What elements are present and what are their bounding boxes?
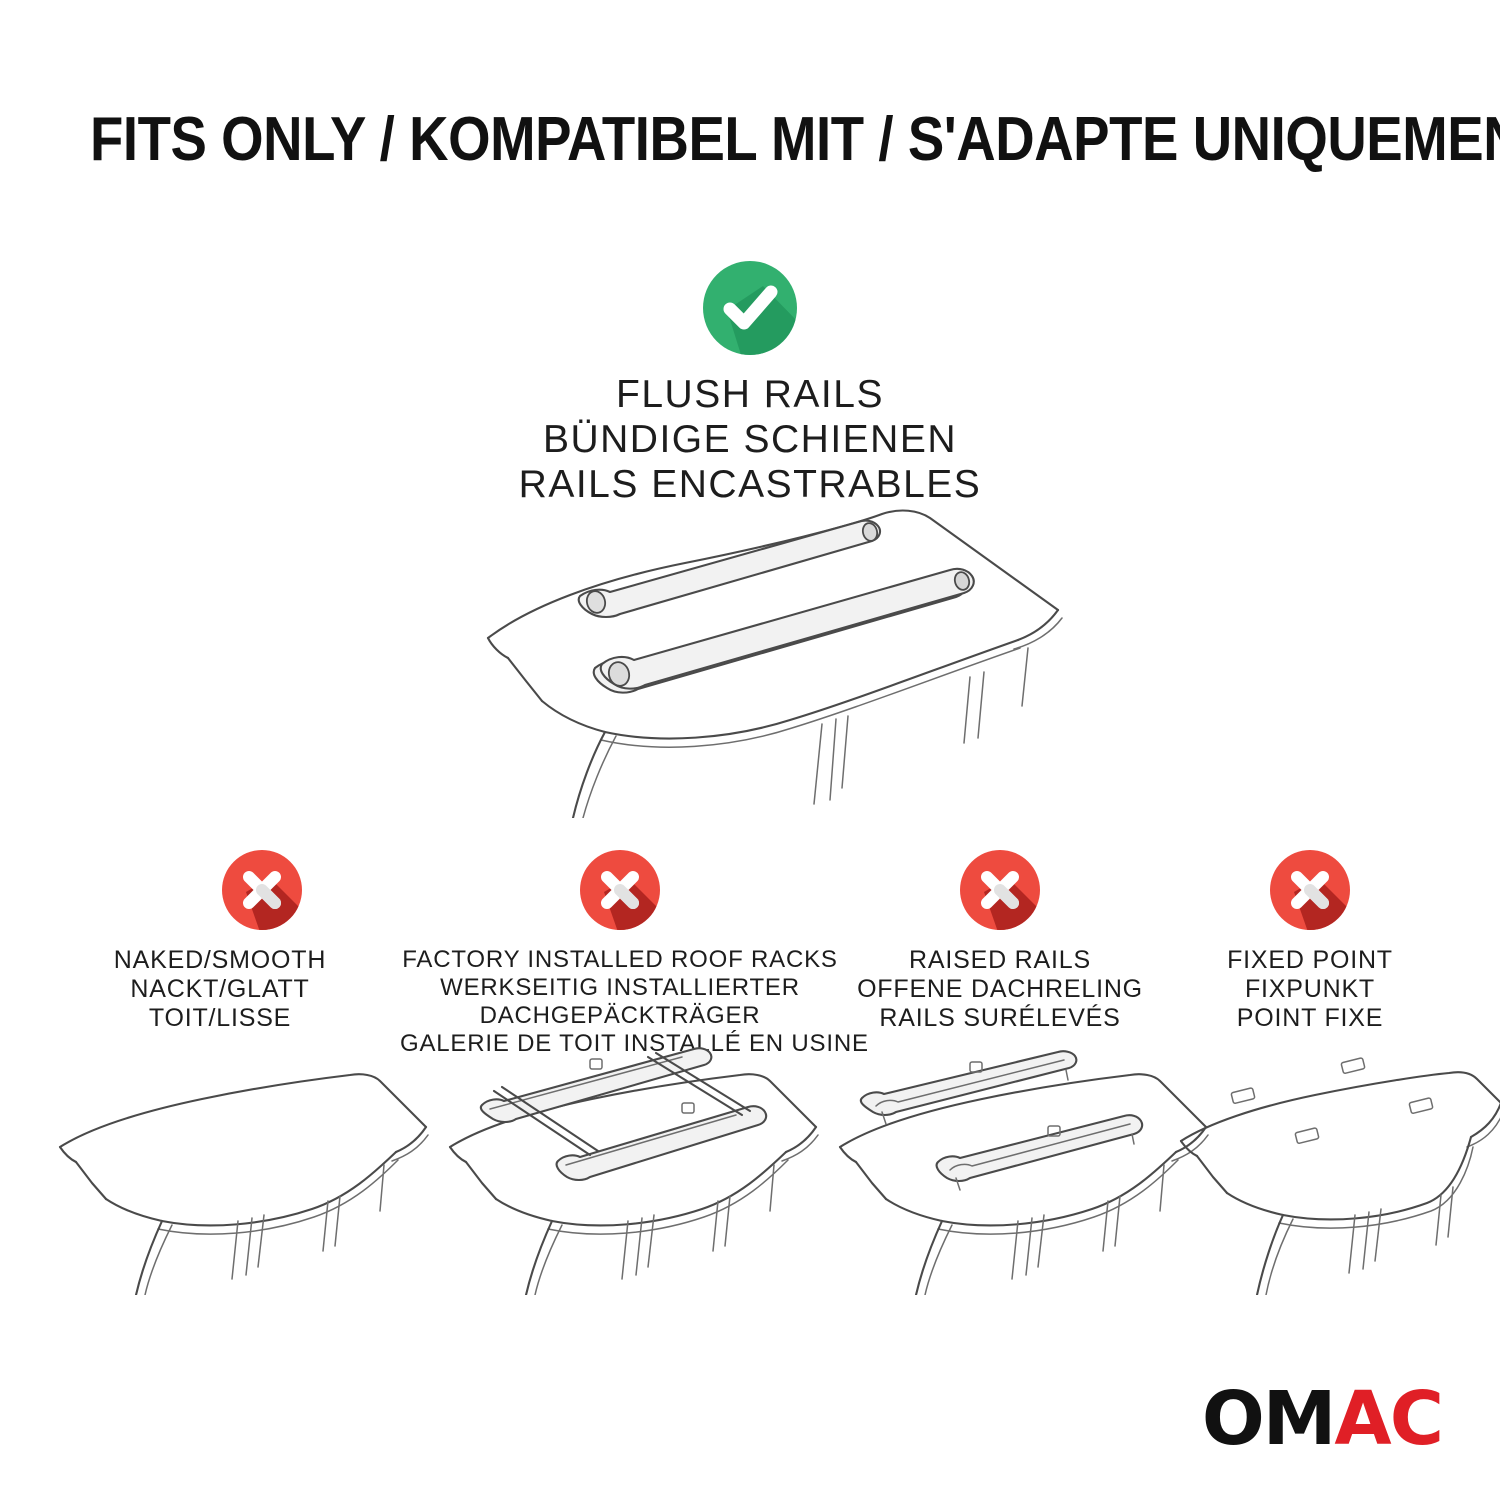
car-roof-flush-rails-illustration (430, 488, 1070, 818)
label-raised-fr: RAILS SURÉLEVÉS (840, 1004, 1160, 1033)
label-factory-de2: DACHGEPÄCKTRÄGER (400, 1002, 840, 1030)
incompatible-item-fixed-point: FIXED POINT FIXPUNKT POINT FIXE (1160, 848, 1460, 1033)
omac-logo: OMAC (1202, 1382, 1442, 1456)
label-naked-fr: TOIT/LISSE (40, 1004, 400, 1033)
incompatible-item-raised-rails: RAISED RAILS OFFENE DACHRELING RAILS SUR… (840, 848, 1160, 1033)
label-naked-en: NAKED/SMOOTH (40, 946, 400, 975)
compatible-label-de: BÜNDIGE SCHIENEN (250, 417, 1250, 462)
label-fixed-de: FIXPUNKT (1160, 975, 1460, 1004)
red-x-circle-icon (1268, 848, 1352, 932)
label-factory-en: FACTORY INSTALLED ROOF RACKS (400, 946, 840, 974)
label-raised-en: RAISED RAILS (840, 946, 1160, 975)
logo-text-dark: OM (1202, 1376, 1335, 1462)
incompatible-labels-naked: NAKED/SMOOTH NACKT/GLATT TOIT/LISSE (40, 946, 400, 1033)
car-roof-naked-illustration (40, 1055, 430, 1300)
incompatible-item-factory-racks: FACTORY INSTALLED ROOF RACKS WERKSEITIG … (400, 848, 840, 1058)
car-roof-factory-racks-illustration (430, 1045, 820, 1300)
compatible-label-en: FLUSH RAILS (250, 372, 1250, 417)
incompatible-labels-fixed-point: FIXED POINT FIXPUNKT POINT FIXE (1160, 946, 1460, 1033)
red-x-circle-icon (958, 848, 1042, 932)
green-check-circle-icon (700, 258, 800, 358)
incompatible-item-naked: NAKED/SMOOTH NACKT/GLATT TOIT/LISSE (40, 848, 400, 1033)
label-fixed-en: FIXED POINT (1160, 946, 1460, 975)
label-fixed-fr: POINT FIXE (1160, 1004, 1460, 1033)
incompatible-labels-raised-rails: RAISED RAILS OFFENE DACHRELING RAILS SUR… (840, 946, 1160, 1033)
car-roof-fixed-point-illustration (1165, 1055, 1500, 1300)
label-raised-de: OFFENE DACHRELING (840, 975, 1160, 1004)
compatible-section: FLUSH RAILS BÜNDIGE SCHIENEN RAILS ENCAS… (250, 258, 1250, 507)
red-x-circle-icon (220, 848, 304, 932)
label-factory-de1: WERKSEITIG INSTALLIERTER (400, 974, 840, 1002)
car-roof-raised-rails-illustration (820, 1050, 1210, 1300)
compatible-labels: FLUSH RAILS BÜNDIGE SCHIENEN RAILS ENCAS… (250, 372, 1250, 507)
red-x-circle-icon (578, 848, 662, 932)
page-title: FITS ONLY / KOMPATIBEL MIT / S'ADAPTE UN… (90, 104, 1410, 175)
incompatible-labels-factory-racks: FACTORY INSTALLED ROOF RACKS WERKSEITIG … (400, 946, 840, 1058)
logo-text-red: AC (1334, 1376, 1442, 1462)
label-naked-de: NACKT/GLATT (40, 975, 400, 1004)
